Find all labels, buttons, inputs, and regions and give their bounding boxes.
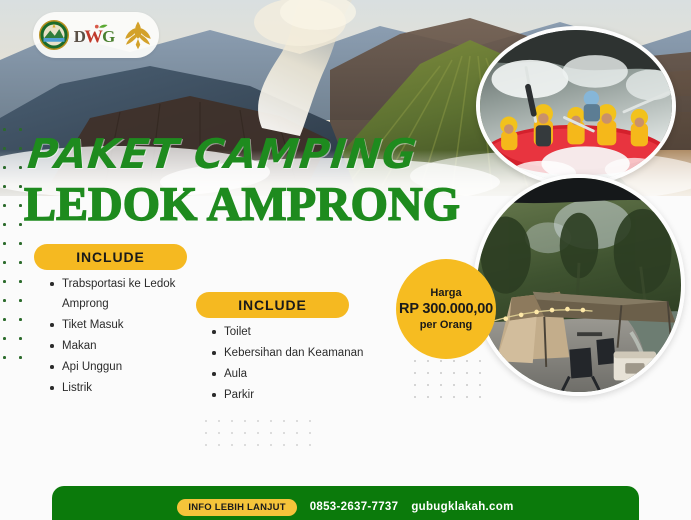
headline-line-1: PAKET CAMPING — [25, 130, 419, 178]
decorative-dot — [231, 432, 233, 434]
decorative-dot — [3, 204, 6, 207]
list-item: Tiket Masuk — [48, 315, 218, 335]
decorative-dot — [427, 372, 429, 374]
decorative-dot — [414, 360, 416, 362]
decorative-dot — [479, 360, 481, 362]
decorative-dot — [3, 166, 6, 169]
list-item: Trabsportasi ke Ledok Amprong — [48, 274, 218, 314]
decorative-dot — [3, 261, 6, 264]
include-pill-1: INCLUDE — [34, 244, 187, 270]
footer-contact-bar: INFO LEBIH LANJUT 0853-2637-7737 gubugkl… — [52, 486, 639, 520]
photo-rafting — [476, 26, 676, 186]
decorative-dot — [414, 372, 416, 374]
decorative-dot — [3, 337, 6, 340]
decorative-dot — [218, 444, 220, 446]
decorative-dot — [283, 444, 285, 446]
contact-phone[interactable]: 0853-2637-7737 — [310, 501, 399, 513]
include-pill-2: INCLUDE — [196, 292, 349, 318]
list-item: Parkir — [210, 385, 375, 405]
decorative-dot — [19, 128, 22, 131]
decorative-dot — [3, 147, 6, 150]
decorative-dot — [19, 337, 22, 340]
decorative-dot — [466, 384, 468, 386]
decorative-dot — [427, 360, 429, 362]
decorative-dot — [466, 372, 468, 374]
decorative-dot — [414, 384, 416, 386]
regency-seal-icon — [39, 20, 69, 50]
decorative-dot — [19, 280, 22, 283]
decorative-dot — [3, 223, 6, 226]
decorative-dot — [283, 432, 285, 434]
list-item: Toilet — [210, 322, 375, 342]
decorative-dot — [231, 444, 233, 446]
decorative-dot — [19, 242, 22, 245]
decorative-dot — [257, 420, 259, 422]
decorative-dot — [440, 360, 442, 362]
price-label: Harga — [430, 287, 461, 299]
decorative-dot — [244, 420, 246, 422]
decorative-dot — [3, 128, 6, 131]
decorative-dot — [296, 432, 298, 434]
decorative-dot — [479, 396, 481, 398]
decorative-dot — [270, 444, 272, 446]
include-list-1: Trabsportasi ke Ledok Amprong Tiket Masu… — [48, 274, 218, 399]
list-item: Listrik — [48, 378, 218, 398]
decorative-dot — [205, 432, 207, 434]
decorative-dot — [414, 396, 416, 398]
decorative-dot — [3, 280, 6, 283]
decorative-dot — [309, 432, 311, 434]
decorative-dot — [3, 299, 6, 302]
decorative-dot — [19, 223, 22, 226]
decorative-dot — [453, 384, 455, 386]
decorative-dot — [19, 185, 22, 188]
decorative-dot — [270, 420, 272, 422]
decorative-dot — [244, 432, 246, 434]
logo-bar: D W G — [33, 12, 159, 58]
decorative-dot — [283, 420, 285, 422]
decorative-dot — [440, 372, 442, 374]
price-amount: RP 300.000,00 — [399, 301, 493, 317]
decorative-dot — [19, 166, 22, 169]
garuda-wing-icon — [123, 19, 153, 51]
decorative-dot — [466, 360, 468, 362]
decorative-dot — [479, 372, 481, 374]
decorative-dot — [257, 444, 259, 446]
list-item: Kebersihan dan Keamanan — [210, 343, 375, 363]
decorative-dot — [453, 372, 455, 374]
decorative-dot — [19, 204, 22, 207]
decorative-dot — [3, 356, 6, 359]
decorative-dot — [427, 384, 429, 386]
decorative-dot — [257, 432, 259, 434]
dwg-wordmark-logo: D W G — [73, 20, 119, 50]
decorative-dot — [309, 444, 311, 446]
svg-text:W: W — [85, 27, 104, 47]
decorative-dot-grid-middle — [205, 420, 325, 460]
decorative-dot — [205, 420, 207, 422]
poster-canvas: D W G PAKET CAMPING LEDOK AM — [0, 0, 691, 520]
decorative-dot — [3, 242, 6, 245]
decorative-dot — [466, 396, 468, 398]
decorative-dot — [218, 420, 220, 422]
decorative-dot — [218, 432, 220, 434]
decorative-dot — [453, 396, 455, 398]
decorative-dot-grid-price — [414, 360, 494, 408]
decorative-dot — [296, 420, 298, 422]
price-unit: per Orang — [420, 319, 473, 331]
decorative-dot — [296, 444, 298, 446]
price-badge: Harga RP 300.000,00 per Orang — [396, 259, 496, 359]
svg-text:G: G — [102, 27, 115, 46]
decorative-dot — [205, 444, 207, 446]
decorative-dot — [453, 360, 455, 362]
decorative-dot — [440, 396, 442, 398]
decorative-dot — [19, 261, 22, 264]
decorative-dot — [270, 432, 272, 434]
decorative-dot — [3, 185, 6, 188]
decorative-dot — [231, 420, 233, 422]
decorative-dot — [3, 318, 6, 321]
list-item: Api Unggun — [48, 357, 218, 377]
decorative-dot — [440, 384, 442, 386]
include-list-2: Toilet Kebersihan dan Keamanan Aula Park… — [210, 322, 375, 406]
decorative-dot — [19, 318, 22, 321]
info-cta-button[interactable]: INFO LEBIH LANJUT — [177, 499, 296, 516]
decorative-dot — [427, 396, 429, 398]
list-item: Aula — [210, 364, 375, 384]
decorative-dot — [244, 444, 246, 446]
decorative-dot — [19, 147, 22, 150]
contact-website[interactable]: gubugklakah.com — [411, 501, 513, 513]
decorative-dot — [479, 384, 481, 386]
list-item: Makan — [48, 336, 218, 356]
decorative-dot — [19, 356, 22, 359]
photo-campsite — [473, 174, 685, 396]
decorative-dot — [309, 420, 311, 422]
decorative-dot — [19, 299, 22, 302]
headline-line-2: LEDOK AMPRONG — [24, 177, 460, 232]
